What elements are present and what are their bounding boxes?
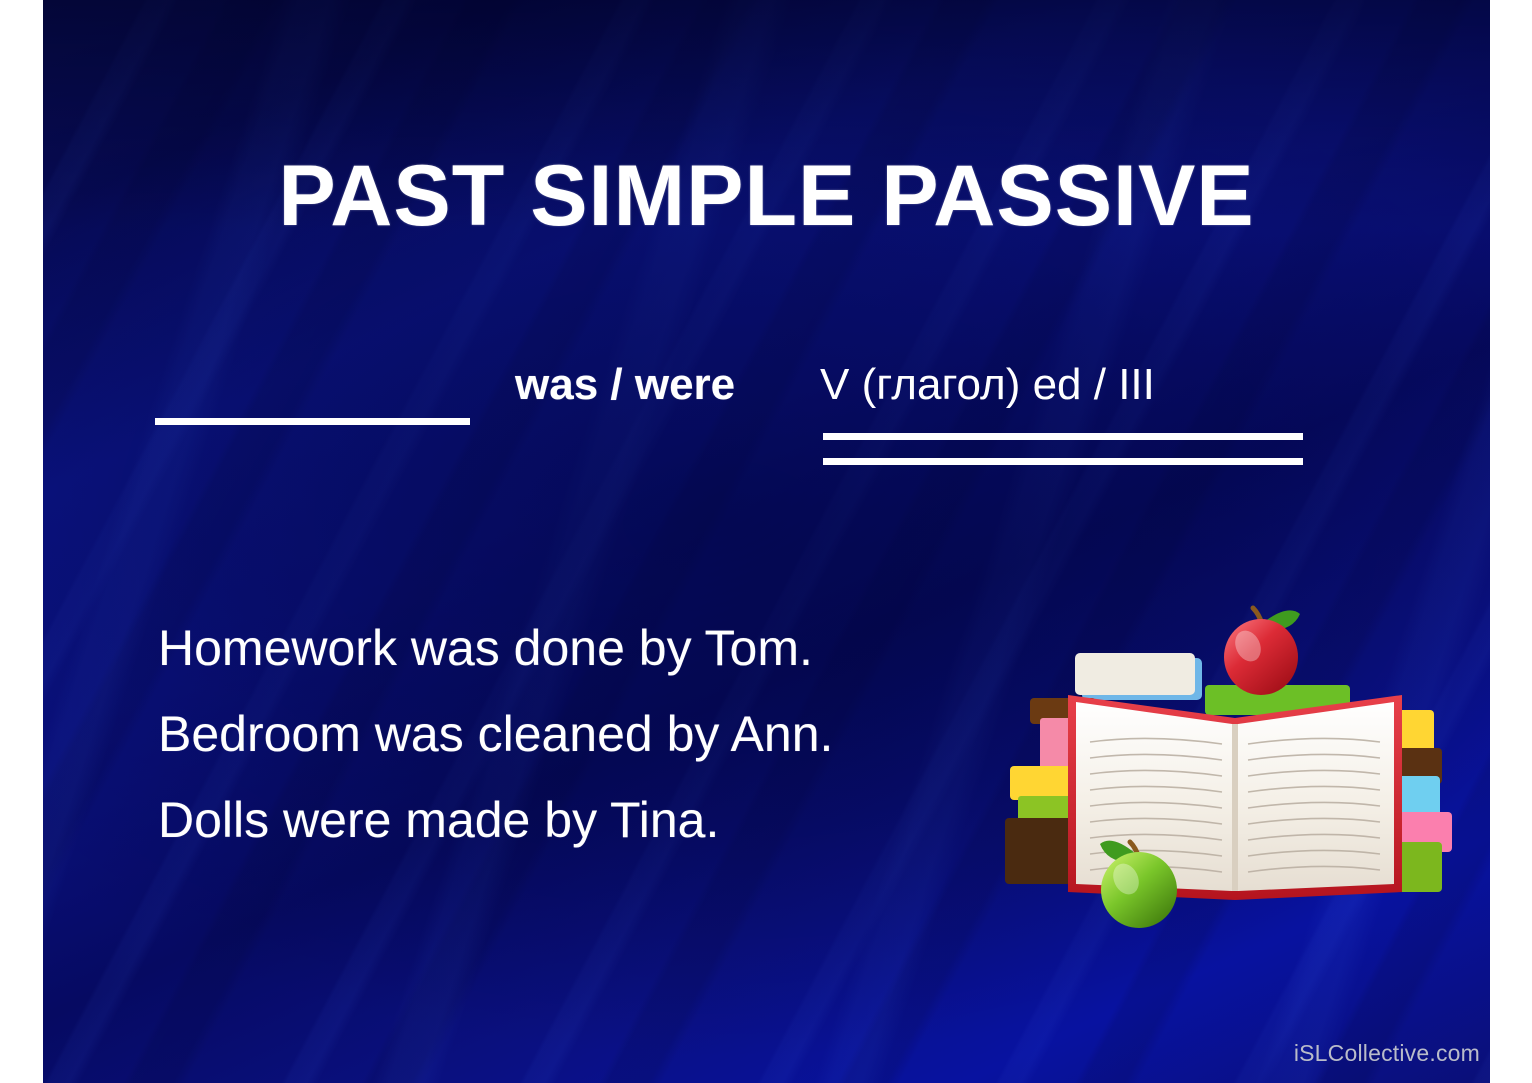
slide: PAST SIMPLE PASSIVE was / were V (глагол… [0, 0, 1532, 1083]
subject-blank-underline [155, 418, 470, 425]
open-book-with-apples-icon [1000, 600, 1470, 930]
islcollective-watermark: iSLCollective.com [1294, 1040, 1480, 1067]
formula-row: was / were V (глагол) ed / III [155, 360, 1355, 480]
auxiliary-verb-label: was / were [515, 360, 735, 410]
participle-underline-bottom [823, 458, 1303, 465]
red-apple-icon [1224, 608, 1300, 695]
participle-underline-top [823, 433, 1303, 440]
example-sentence-2: Bedroom was cleaned by Ann. [158, 691, 833, 777]
top-left-book [1075, 653, 1202, 700]
page-title: PAST SIMPLE PASSIVE [43, 150, 1490, 243]
example-sentence-3: Dolls were made by Tina. [158, 777, 833, 863]
past-participle-label: V (глагол) ed / III [820, 360, 1155, 410]
example-sentence-1: Homework was done by Tom. [158, 605, 833, 691]
example-sentences: Homework was done by Tom. Bedroom was cl… [158, 605, 833, 863]
